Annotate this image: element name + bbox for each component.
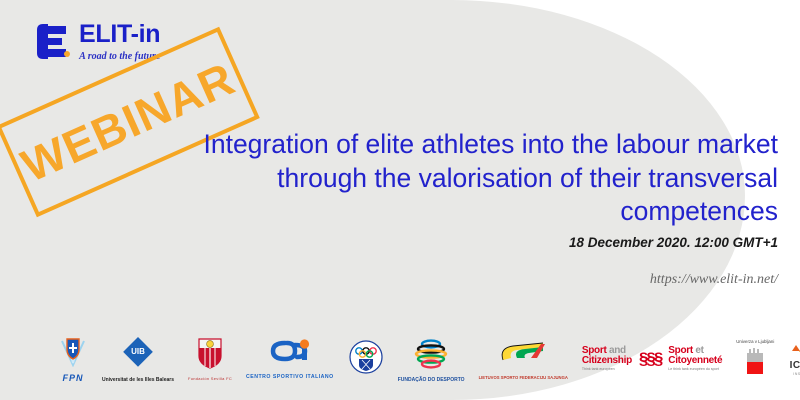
fpn-label: FPN — [63, 373, 84, 383]
lsf-swoosh-icon — [497, 338, 549, 373]
sc-fr-word2: Citoyenneté — [668, 356, 722, 366]
elit-in-e-mark-icon — [36, 22, 70, 60]
svg-text:UIB: UIB — [131, 347, 145, 356]
page-title: Integration of elite athletes into the l… — [193, 128, 778, 229]
partner-logo-icss: ICSS INSIGHT — [788, 330, 800, 388]
partner-logo-sport-and-citizenship: Sport and Citizenship Think tank europée… — [582, 330, 722, 388]
website-url: https://www.elit-in.net/ — [193, 272, 778, 288]
partner-logo-olympic-bih — [348, 330, 384, 388]
brand-logo: ELIT-in A road to the future — [36, 22, 160, 62]
olympic-rings-icon — [348, 339, 384, 380]
sc-en-sub: Think tank européen — [582, 368, 632, 372]
partner-logo-fundacao-do-desporto: FUNDAÇÃO DO DESPORTO — [398, 330, 465, 388]
sport-and-citizenship-en: Sport and Citizenship Think tank europée… — [582, 346, 632, 372]
sc-fr-sub: Le think tank européen du sport — [668, 368, 722, 372]
brand-text: ELIT-in A road to the future — [79, 22, 160, 62]
sport-and-citizenship-fr: Sport et Citoyenneté Le think tank europ… — [668, 346, 722, 372]
partner-logo-univerza-v-ljubljani: Univerza v Ljubljani — [736, 330, 774, 388]
uib-diamond-icon: UIB — [121, 335, 155, 374]
sc-en-word2: Citizenship — [582, 356, 632, 366]
partner-logo-strip: FPN UIB Universitat de les Illes Balears — [58, 328, 758, 390]
csi-monogram-icon — [269, 337, 311, 372]
icss-caption: INSIGHT — [793, 372, 800, 376]
lsf-caption: LIETUVOS SPORTO FEDERACIJU SAJUNGA — [479, 375, 568, 380]
wave-icon: §§§ — [639, 349, 661, 369]
ljubljana-tower-icon — [743, 347, 767, 380]
sevilla-caption: Fundación Sevilla FC — [188, 376, 232, 381]
sevilla-crest-icon — [197, 337, 223, 374]
icss-label: ICSS — [790, 360, 800, 371]
webinar-poster: ELIT-in A road to the future WEBINAR Int… — [0, 0, 800, 400]
brand-name: ELIT-in — [79, 22, 160, 47]
ljubljana-caption: Univerza v Ljubljani — [736, 339, 774, 344]
fpn-shield-icon — [58, 335, 88, 372]
globe-rings-icon — [411, 336, 451, 375]
partner-logo-csi: CENTRO SPORTIVO ITALIANO — [246, 330, 334, 388]
partner-logo-lsf: LIETUVOS SPORTO FEDERACIJU SAJUNGA — [479, 330, 568, 388]
event-datetime: 18 December 2020. 12:00 GMT+1 — [193, 235, 778, 250]
fundacao-caption: FUNDAÇÃO DO DESPORTO — [398, 377, 465, 383]
partner-logo-sevilla-fc: Fundación Sevilla FC — [188, 330, 232, 388]
csi-caption: CENTRO SPORTIVO ITALIANO — [246, 374, 334, 381]
partner-logo-fpn: FPN — [58, 330, 88, 388]
icss-mark-icon — [788, 342, 800, 360]
uib-caption: Universitat de les Illes Balears — [102, 377, 174, 384]
partner-logo-uib: UIB Universitat de les Illes Balears — [102, 330, 174, 388]
